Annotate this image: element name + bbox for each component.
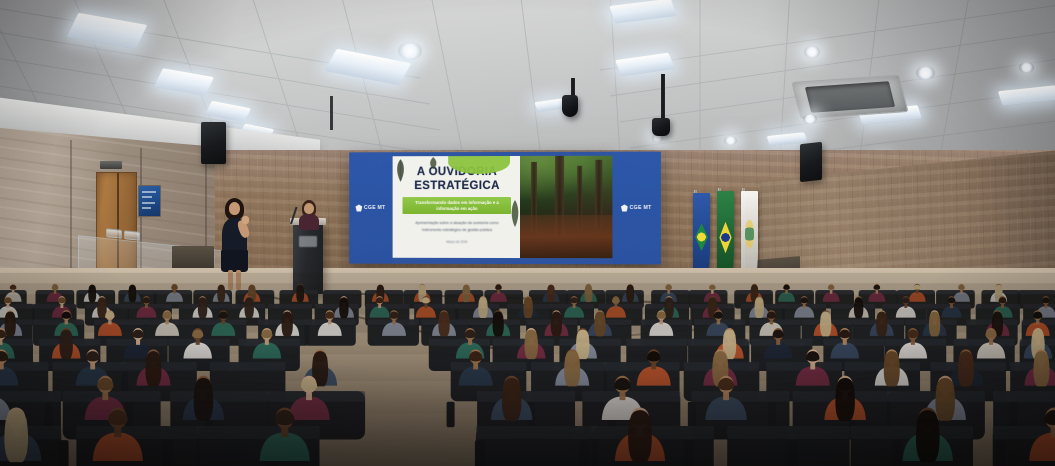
audience-and-seating	[0, 0, 1055, 466]
auditorium-photo: CGE MT CGE MT A O	[0, 0, 1055, 466]
